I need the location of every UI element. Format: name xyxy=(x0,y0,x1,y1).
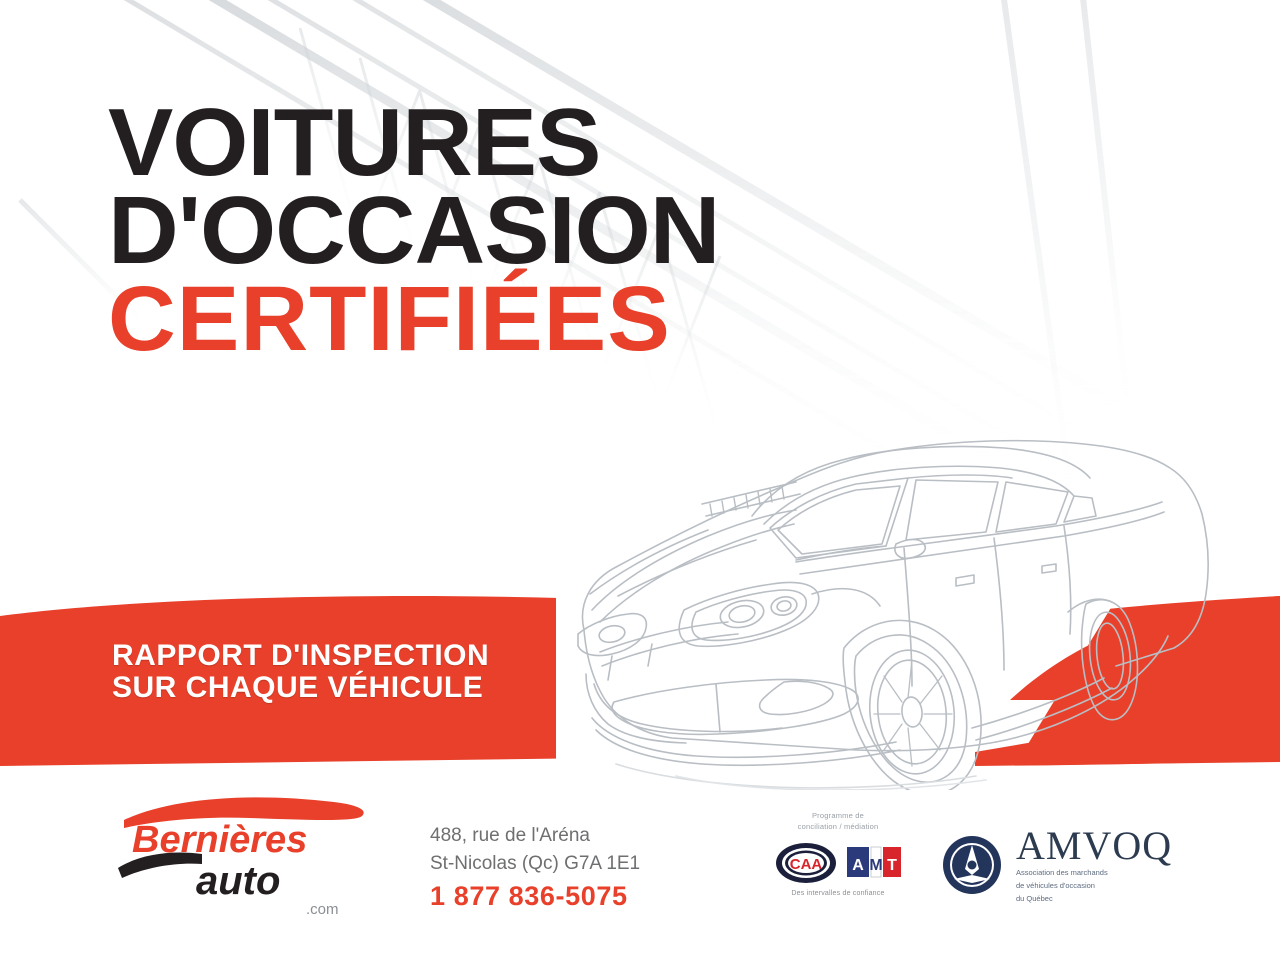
program-caption: Des intervalles de confiance xyxy=(748,890,928,897)
phone-number[interactable]: 1 877 836-5075 xyxy=(430,881,720,912)
dealer-logo[interactable]: Bernières auto .com xyxy=(110,790,380,920)
amvoq-text: AMVOQ Association des marchands de véhic… xyxy=(1016,826,1172,905)
amvoq-sub-1: Association des marchands xyxy=(1016,868,1172,879)
contact-block: 488, rue de l'Aréna St-Nicolas (Qc) G7A … xyxy=(430,822,720,912)
program-line-1: Programme de xyxy=(748,810,928,821)
street-address: 488, rue de l'Aréna xyxy=(430,822,720,850)
amt-logo: A M T xyxy=(847,843,901,883)
headline-block: VOITURES D'OCCASION CERTIFIÉES xyxy=(108,96,928,364)
svg-text:T: T xyxy=(887,857,897,874)
caa-logo: CAA xyxy=(775,842,837,884)
logo-name-black: auto xyxy=(196,859,280,903)
amvoq-emblem-icon xyxy=(942,835,1002,895)
banner-text-block: RAPPORT D'INSPECTION SUR CHAQUE VÉHICULE xyxy=(112,640,489,705)
caa-label: CAA xyxy=(790,856,823,873)
footer: Bernières auto .com 488, rue de l'Aréna … xyxy=(0,782,1280,960)
logo-domain: .com xyxy=(306,901,339,918)
headline-line-1: VOITURES xyxy=(108,96,944,190)
ad-banner: VOITURES D'OCCASION CERTIFIÉES xyxy=(0,0,1280,960)
headline-line-2: D'OCCASION xyxy=(108,184,944,278)
program-logos: CAA A M T xyxy=(748,842,928,884)
headline-line-3: CERTIFIÉES xyxy=(108,274,944,364)
amvoq-logo: AMVOQ Association des marchands de véhic… xyxy=(942,826,1172,905)
banner-line-2: SUR CHAQUE VÉHICULE xyxy=(112,672,489,704)
city-postal: St-Nicolas (Qc) G7A 1E1 xyxy=(430,850,720,878)
caa-program-block: Programme de conciliation / médiation CA… xyxy=(748,810,928,897)
logo-name-red: Bernières xyxy=(132,819,307,861)
vehicle-line-art xyxy=(556,398,1256,790)
banner-line-1: RAPPORT D'INSPECTION xyxy=(112,640,489,672)
amvoq-sub-2: de véhicules d'occasion xyxy=(1016,881,1172,892)
amvoq-sub-3: du Québec xyxy=(1016,894,1172,905)
program-line-2: conciliation / médiation xyxy=(748,821,928,832)
svg-text:A: A xyxy=(852,857,864,874)
svg-text:M: M xyxy=(869,857,882,874)
amvoq-wordmark: AMVOQ xyxy=(1016,826,1172,866)
